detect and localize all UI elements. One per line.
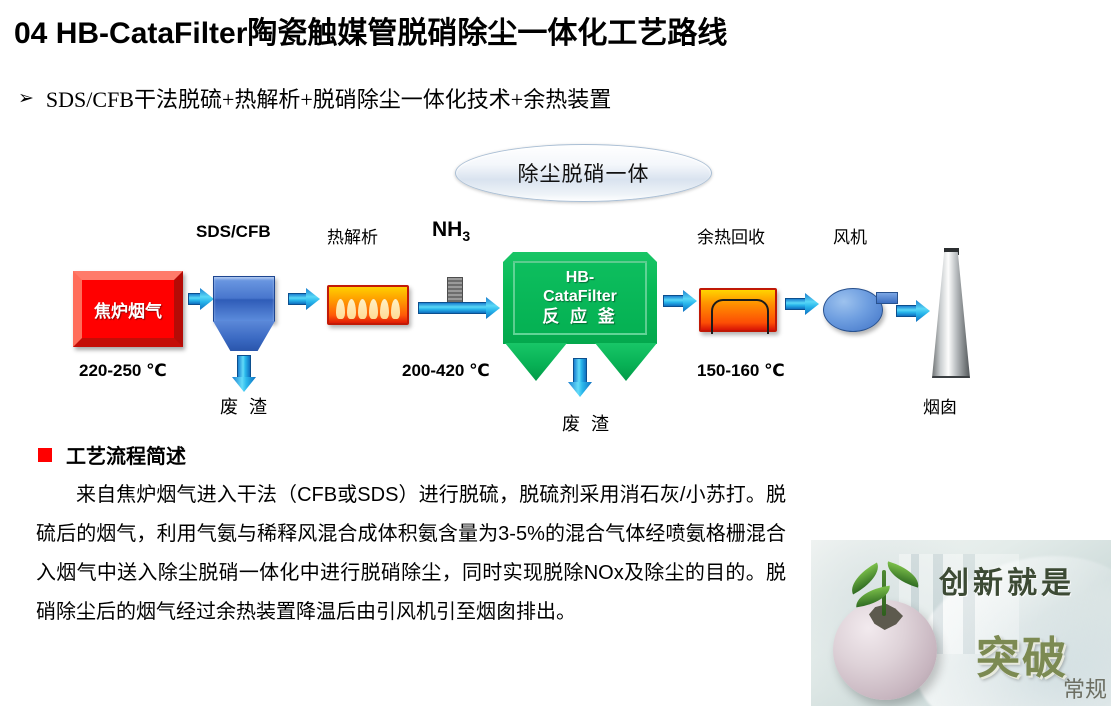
- temperature-outlet: 150-160 ℃: [697, 361, 785, 381]
- unit-hb-catafilter-reactor: HB- CataFilter 反 应 釜: [503, 252, 657, 344]
- flame-icon: [336, 299, 400, 319]
- reactor-label-line3: 反 应 釜: [542, 306, 617, 328]
- unit-coke-oven-gas: 焦炉烟气: [73, 271, 183, 347]
- waste-arrow-1-icon: [232, 355, 256, 391]
- bullet-text: SDS/CFB干法脱硫+热解析+脱硝除尘一体化技术+余热装置: [46, 82, 611, 114]
- decoration-line3: 常规: [1063, 672, 1107, 704]
- temperature-reactor: 200-420 ℃: [402, 361, 490, 381]
- unit-induced-draft-fan: [823, 288, 883, 332]
- flow-arrow-4-icon: [663, 290, 697, 312]
- chimney-caption: 烟囱: [923, 393, 957, 418]
- unit-coke-oven-gas-label: 焦炉烟气: [94, 297, 162, 322]
- unit-thermal-desorption: [327, 285, 409, 325]
- section-heading: 工艺流程简述: [38, 440, 186, 469]
- waste-arrow-2-icon: [568, 358, 592, 396]
- unit-heat-recovery: [699, 288, 777, 332]
- page-title: 04 HB-CataFilter陶瓷触媒管脱硝除尘一体化工艺路线: [14, 8, 1094, 52]
- flow-arrow-5-icon: [785, 293, 819, 315]
- decoration-line2: 突破: [976, 622, 1068, 686]
- waste-label-2: 废 渣: [562, 410, 612, 436]
- section-heading-label: 工艺流程简述: [66, 440, 186, 469]
- flow-arrow-2-icon: [288, 288, 320, 310]
- flow-arrow-1-icon: [188, 288, 214, 310]
- heat-recovery-arch-icon: [711, 299, 769, 334]
- temperature-inlet: 220-250 ℃: [79, 361, 167, 381]
- label-thermal-desorption: 热解析: [327, 223, 378, 248]
- unit-desulfurization: [213, 276, 275, 322]
- process-description-paragraph: 来自焦炉烟气进入干法（CFB或SDS）进行脱硫，脱硫剂采用消石灰/小苏打。脱硫后…: [36, 476, 786, 632]
- bullet-row: ➢ SDS/CFB干法脱硫+热解析+脱硝除尘一体化技术+余热装置: [18, 82, 611, 114]
- flow-arrow-3-icon: [418, 297, 500, 319]
- decorative-artwork: 创新就是 突破 常规: [811, 540, 1111, 706]
- nh3-text: NH: [432, 218, 462, 241]
- unit-desulfurization-hopper: [213, 321, 275, 351]
- reactor-label-line2: CataFilter: [543, 287, 617, 306]
- unit-chimney: [932, 252, 970, 378]
- decoration-line1: 创新就是: [939, 558, 1075, 602]
- reactor-hopper-right: [595, 343, 657, 381]
- reactor-hopper-left: [505, 343, 567, 381]
- square-bullet-icon: [38, 448, 52, 462]
- callout-label: 除尘脱硝一体: [518, 158, 650, 188]
- callout-oval: 除尘脱硝一体: [455, 144, 712, 202]
- waste-label-1: 废 渣: [220, 393, 270, 419]
- label-nh3: NH3: [432, 218, 470, 244]
- reactor-inner-panel: HB- CataFilter 反 应 釜: [513, 261, 647, 335]
- arrow-bullet-icon: ➢: [18, 89, 34, 108]
- flow-arrow-6-icon: [896, 300, 930, 322]
- nh3-subscript: 3: [462, 228, 470, 244]
- label-heat-recovery: 余热回收: [697, 223, 765, 248]
- fan-outlet-icon: [876, 292, 898, 304]
- label-sds-cfb: SDS/CFB: [196, 222, 271, 242]
- label-fan: 风机: [833, 223, 867, 248]
- reactor-label-line1: HB-: [566, 268, 594, 287]
